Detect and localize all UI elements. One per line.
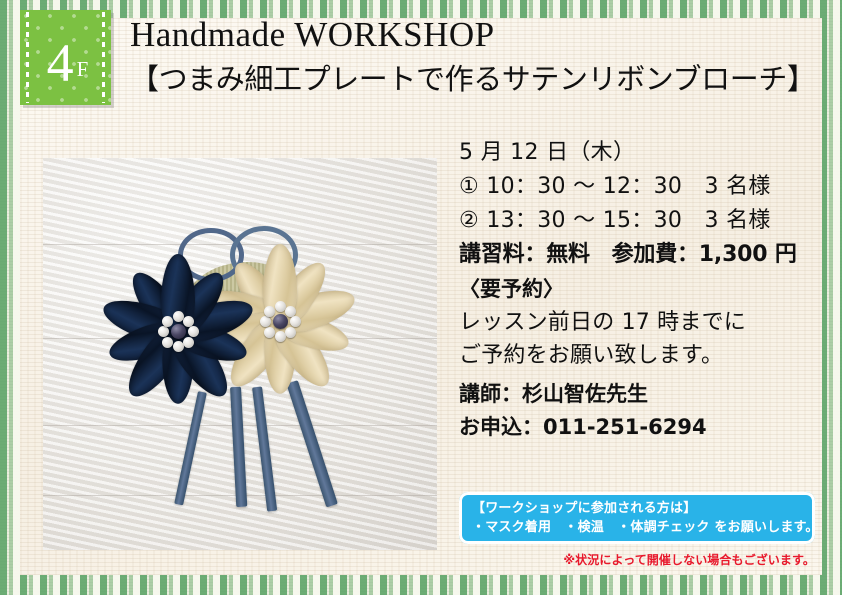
detail-fee: 講習料：無料 参加費：1,300 円	[459, 244, 829, 266]
detail-phone[interactable]: お申込：011-251-6294	[459, 417, 829, 438]
notice-heading: 【ワークショップに参加される方は】	[472, 499, 815, 518]
detail-session-1: ① 10：30 〜 12：30 3 名様	[459, 176, 829, 198]
pearl-bead	[173, 311, 184, 322]
badge-inner: 4 F	[20, 10, 111, 105]
covid-notice-box: 【ワークショップに参加される方は】 ・マスク着用 ・検温 ・体調チェック をお願…	[459, 492, 815, 544]
pearl-bead	[188, 326, 199, 337]
photo-backdrop	[43, 158, 437, 550]
pearl-bead-center	[273, 314, 288, 329]
title-japanese: 【つまみ細工プレートで作るサテンリボンブローチ】	[130, 58, 810, 100]
pearl-center-navy	[156, 310, 200, 354]
detail-instructor: 講師：杉山智佐先生	[459, 384, 829, 405]
badge-floor-suffix: F	[77, 59, 89, 80]
notice-body: ・マスク着用 ・検温 ・体調チェック をお願いします。	[472, 518, 815, 537]
pearl-bead	[260, 316, 271, 327]
detail-reservation-label: 〈要予約〉	[459, 279, 829, 300]
workshop-photo	[43, 158, 437, 550]
pearl-bead	[285, 327, 296, 338]
ribbon-brooch-arrangement	[90, 212, 390, 512]
pearl-bead	[162, 316, 173, 327]
pearl-bead	[183, 316, 194, 327]
detail-note-line-1: レッスン前日の 17 時までに	[459, 312, 829, 334]
detail-note-line-2: ご予約をお願い致します。	[459, 345, 829, 367]
floor-badge: 4 F	[20, 10, 111, 105]
detail-date: 5 月 12 日（木）	[459, 142, 829, 164]
cancellation-disclaimer: ※状況によって開催しない場合もございます。	[459, 551, 815, 568]
pearl-bead	[275, 301, 286, 312]
navy-kanzashi-flower	[98, 252, 258, 412]
pearl-bead	[264, 306, 275, 317]
pearl-bead	[264, 327, 275, 338]
title-english: Handmade WORKSHOP	[130, 12, 810, 58]
pearl-center-cream	[258, 300, 302, 344]
poster-title-block: Handmade WORKSHOP 【つまみ細工プレートで作るサテンリボンブロー…	[130, 12, 810, 100]
pearl-bead	[173, 341, 184, 352]
pearl-bead	[183, 337, 194, 348]
pearl-bead	[285, 306, 296, 317]
pearl-bead	[275, 331, 286, 342]
detail-session-2: ② 13：30 〜 15：30 3 名様	[459, 210, 829, 232]
pearl-bead	[162, 337, 173, 348]
pearl-bead	[158, 326, 169, 337]
badge-floor-number: 4	[47, 36, 73, 90]
workshop-details: 5 月 12 日（木） ① 10：30 〜 12：30 3 名様 ② 13：30…	[459, 142, 829, 438]
workshop-poster: 4 F Handmade WORKSHOP 【つまみ細工プレートで作るサテンリボ…	[0, 0, 842, 595]
pearl-bead-center	[171, 324, 186, 339]
pearl-bead	[290, 316, 301, 327]
